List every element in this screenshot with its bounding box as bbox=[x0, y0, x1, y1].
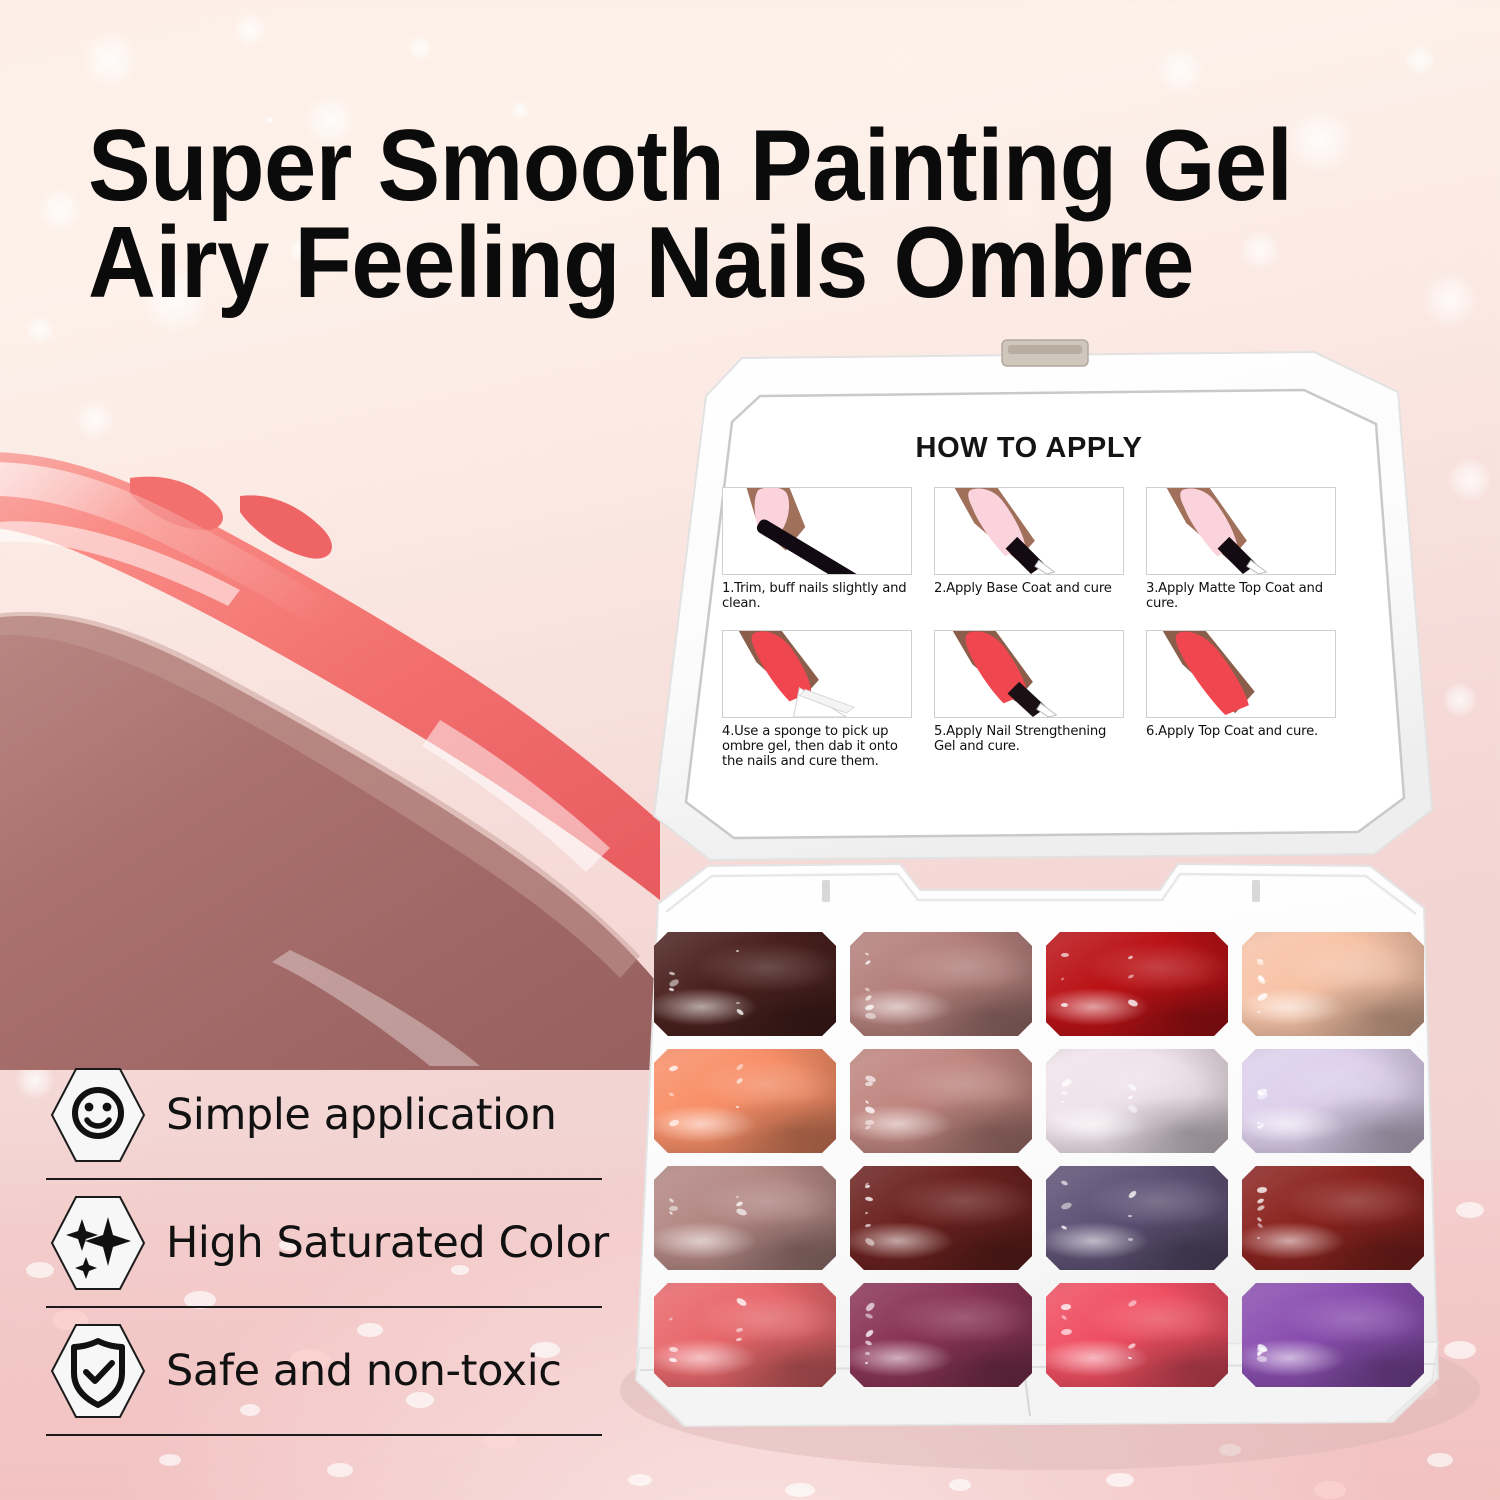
step-item-1: 1.Trim, buff nails slightly and clean. bbox=[722, 487, 912, 612]
swatch-specular-dot bbox=[1256, 1186, 1266, 1192]
swatch-gloss-highlight bbox=[850, 932, 1032, 1036]
color-swatch-bright-crimson-red[interactable] bbox=[1046, 932, 1228, 1036]
swatch-gloss-highlight bbox=[850, 1166, 1032, 1270]
step-6-illustration bbox=[1146, 630, 1336, 718]
step-1-caption: 1.Trim, buff nails slightly and clean. bbox=[722, 581, 912, 612]
color-swatch-slate-purple[interactable] bbox=[1046, 1166, 1228, 1270]
step-5-caption: 5.Apply Nail Strengthening Gel and cure. bbox=[934, 724, 1124, 755]
swatch-specular-dot bbox=[864, 1184, 869, 1188]
swatch-gloss-highlight bbox=[654, 1166, 836, 1270]
feature-item-simple-application[interactable]: Simple application bbox=[46, 1052, 602, 1180]
swatch-specular-dot bbox=[1256, 1122, 1259, 1124]
swatch-specular-dot bbox=[668, 1205, 677, 1210]
color-swatch-soft-peach[interactable] bbox=[1242, 932, 1424, 1036]
swatch-specular-dot bbox=[1128, 1095, 1133, 1099]
smiley-face-icon bbox=[46, 1063, 150, 1167]
instruction-sheet: HOW TO APPLY 1.Trim, buff nails slightly… bbox=[704, 422, 1354, 822]
color-swatch-mauve-rose[interactable] bbox=[850, 1049, 1032, 1153]
color-swatch-dusty-rose[interactable] bbox=[850, 932, 1032, 1036]
shield-check-icon bbox=[46, 1319, 150, 1423]
swatch-gloss-highlight bbox=[1046, 1049, 1228, 1153]
swatch-gloss-highlight bbox=[850, 1283, 1032, 1387]
swatch-specular-dot bbox=[1061, 1003, 1068, 1007]
color-swatch-pale-pink-white[interactable] bbox=[1046, 1049, 1228, 1153]
step-5-illustration bbox=[934, 630, 1124, 718]
page-title: Super Smooth Painting Gel Airy Feeling N… bbox=[88, 118, 1353, 312]
sparkles-icon bbox=[46, 1191, 150, 1295]
color-swatch-dark-burgundy[interactable] bbox=[850, 1166, 1032, 1270]
swatch-gloss-highlight bbox=[1242, 1049, 1424, 1153]
step-3-illustration bbox=[1146, 487, 1336, 575]
feature-label-safe-non-toxic: Safe and non-toxic bbox=[166, 1346, 561, 1396]
step-6-caption: 6.Apply Top Coat and cure. bbox=[1146, 724, 1336, 739]
step-3-caption: 3.Apply Matte Top Coat and cure. bbox=[1146, 581, 1336, 612]
swatch-specular-dot bbox=[1128, 1238, 1133, 1241]
how-to-apply-steps: 1.Trim, buff nails slightly and clean. 2… bbox=[722, 487, 1336, 770]
swatch-specular-dot bbox=[736, 950, 739, 952]
swatch-gloss-highlight bbox=[654, 1049, 836, 1153]
step-item-2: 2.Apply Base Coat and cure bbox=[934, 487, 1124, 612]
color-swatch-light-lavender[interactable] bbox=[1242, 1049, 1424, 1153]
swatch-gloss-highlight bbox=[850, 1049, 1032, 1153]
step-item-5: 5.Apply Nail Strengthening Gel and cure. bbox=[934, 630, 1124, 770]
swatch-specular-dot bbox=[864, 1119, 873, 1124]
swatch-specular-dot bbox=[1128, 1215, 1132, 1217]
color-swatch-grid[interactable] bbox=[654, 932, 1424, 1387]
swatch-specular-dot bbox=[865, 1352, 870, 1355]
feature-label-simple-application: Simple application bbox=[166, 1090, 557, 1140]
swatch-specular-dot bbox=[1061, 953, 1069, 958]
swatch-gloss-highlight bbox=[1242, 1166, 1424, 1270]
swatch-specular-dot bbox=[1060, 1303, 1070, 1309]
swatch-gloss-highlight bbox=[1046, 932, 1228, 1036]
step-4-caption: 4.Use a sponge to pick up ombre gel, the… bbox=[722, 724, 912, 770]
feature-list: Simple application High Saturated Color … bbox=[46, 1052, 602, 1436]
swatch-gloss-highlight bbox=[654, 1283, 836, 1387]
headline-line-1: Super Smooth Painting Gel bbox=[88, 118, 1353, 215]
step-1-illustration bbox=[722, 487, 912, 575]
color-swatch-deep-chocolate-brown[interactable] bbox=[654, 932, 836, 1036]
step-item-6: 6.Apply Top Coat and cure. bbox=[1146, 630, 1336, 770]
step-2-illustration bbox=[934, 487, 1124, 575]
swatch-gloss-highlight bbox=[654, 932, 836, 1036]
swatch-gloss-highlight bbox=[1046, 1283, 1228, 1387]
instruction-sheet-title: HOW TO APPLY bbox=[722, 432, 1336, 465]
color-swatch-coral-orange[interactable] bbox=[654, 1049, 836, 1153]
swatch-gloss-highlight bbox=[1046, 1166, 1228, 1270]
color-swatch-dark-brick-red[interactable] bbox=[1242, 1166, 1424, 1270]
feature-item-high-saturated-color[interactable]: High Saturated Color bbox=[46, 1180, 602, 1308]
color-swatch-salmon-pink[interactable] bbox=[654, 1283, 836, 1387]
step-4-illustration bbox=[722, 630, 912, 718]
color-swatch-vivid-purple[interactable] bbox=[1242, 1283, 1424, 1387]
color-swatch-watermelon-pink[interactable] bbox=[1046, 1283, 1228, 1387]
step-2-caption: 2.Apply Base Coat and cure bbox=[934, 581, 1124, 596]
color-swatch-deep-plum-berry[interactable] bbox=[850, 1283, 1032, 1387]
color-swatch-dusty-mauve[interactable] bbox=[654, 1166, 836, 1270]
gel-palette-case[interactable]: HOW TO APPLY 1.Trim, buff nails slightly… bbox=[600, 330, 1480, 1490]
feature-item-safe-non-toxic[interactable]: Safe and non-toxic bbox=[46, 1308, 602, 1436]
swatch-gloss-highlight bbox=[1242, 1283, 1424, 1387]
swatch-specular-dot bbox=[1256, 1236, 1259, 1239]
step-item-4: 4.Use a sponge to pick up ombre gel, the… bbox=[722, 630, 912, 770]
swatch-gloss-highlight bbox=[1242, 932, 1424, 1036]
feature-label-high-saturated-color: High Saturated Color bbox=[166, 1218, 609, 1268]
headline-line-2: Airy Feeling Nails Ombre bbox=[88, 215, 1353, 312]
step-item-3: 3.Apply Matte Top Coat and cure. bbox=[1146, 487, 1336, 612]
